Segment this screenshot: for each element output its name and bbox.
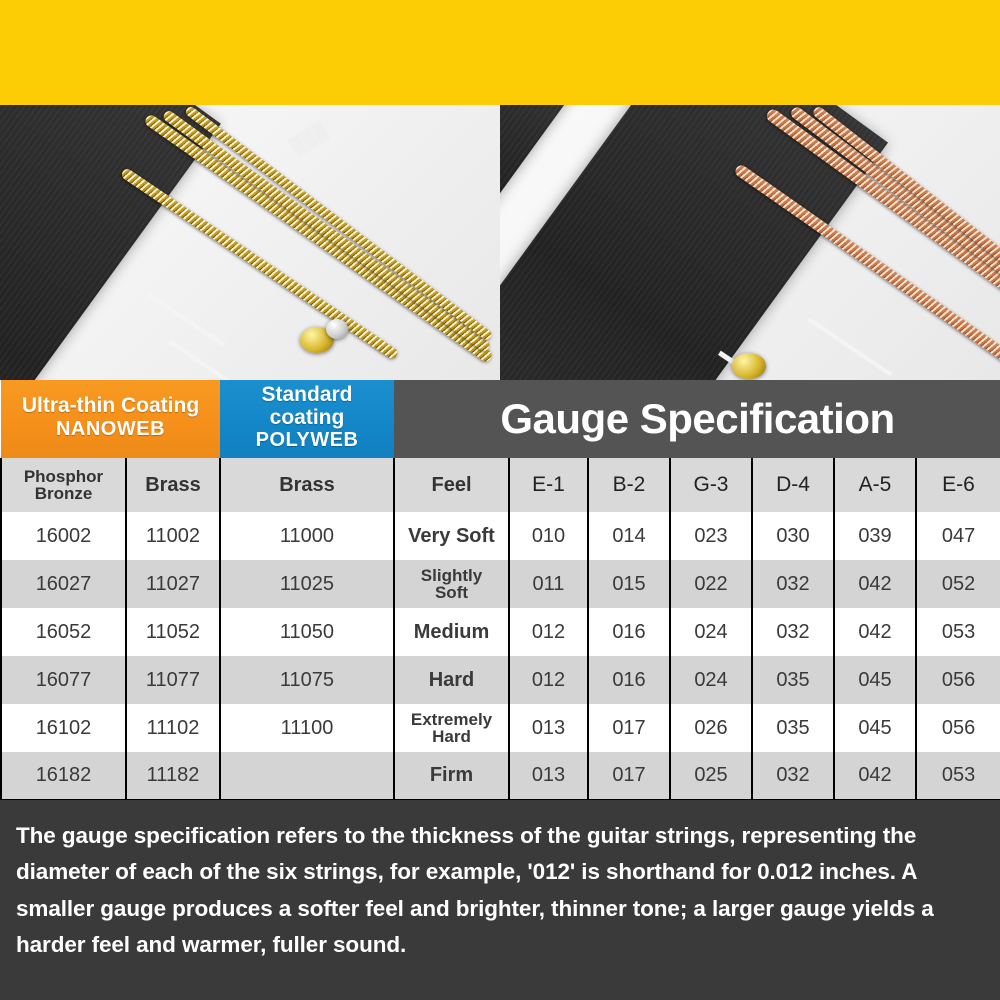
cell-b2: 016	[588, 656, 670, 704]
cell-feel-l1: Extremely	[411, 710, 492, 729]
cell-brass-nanoweb: 11027	[126, 560, 220, 608]
cell-d4: 035	[752, 704, 834, 752]
col-header-d4: D-4	[752, 458, 834, 512]
col-header-phosphor-l1: Phosphor	[24, 467, 103, 486]
cell-feel: Very Soft	[394, 512, 509, 560]
cell-feel: Medium	[394, 608, 509, 656]
cell-e6: 056	[916, 656, 1000, 704]
cell-phosphor-bronze: 16027	[1, 560, 126, 608]
cell-g3: 026	[670, 704, 752, 752]
cell-brass-nanoweb: 11002	[126, 512, 220, 560]
cell-e1: 013	[509, 704, 588, 752]
cell-a5: 039	[834, 512, 916, 560]
cell-brass-polyweb: 11025	[220, 560, 394, 608]
cell-e1: 012	[509, 656, 588, 704]
cell-e6: 053	[916, 608, 1000, 656]
table-row: 16102 11102 11100 Extremely Hard 013 017…	[1, 704, 1000, 752]
col-header-e6: E-6	[916, 458, 1000, 512]
cell-brass-polyweb: 11100	[220, 704, 394, 752]
cell-d4: 032	[752, 608, 834, 656]
cell-e1: 010	[509, 512, 588, 560]
cell-a5: 042	[834, 752, 916, 800]
cell-b2: 017	[588, 704, 670, 752]
cell-phosphor-bronze: 16102	[1, 704, 126, 752]
page-title: Gauge Specification	[500, 395, 894, 442]
gauge-specification-table: Ultra-thin Coating NANOWEB Standard coat…	[0, 380, 1000, 801]
cell-brass-polyweb: 11050	[220, 608, 394, 656]
cell-e1: 011	[509, 560, 588, 608]
top-yellow-banner	[0, 0, 1000, 105]
table-row: 16002 11002 11000 Very Soft 010 014 023 …	[1, 512, 1000, 560]
cell-brass-nanoweb: 11052	[126, 608, 220, 656]
col-header-b2: B-2	[588, 458, 670, 512]
table-row: 16052 11052 11050 Medium 012 016 024 032…	[1, 608, 1000, 656]
cell-a5: 042	[834, 560, 916, 608]
gauge-specification-table-wrap: Ultra-thin Coating NANOWEB Standard coat…	[0, 380, 1000, 800]
col-header-a5: A-5	[834, 458, 916, 512]
cell-e1: 012	[509, 608, 588, 656]
cell-brass-nanoweb: 11182	[126, 752, 220, 800]
cell-g3: 023	[670, 512, 752, 560]
ball-end-gold-right	[732, 353, 766, 379]
cell-phosphor-bronze: 16182	[1, 752, 126, 800]
cell-brass-polyweb: 11075	[220, 656, 394, 704]
table-row: 16182 11182 Firm 013 017 025 032 042 053	[1, 752, 1000, 800]
cell-a5: 045	[834, 656, 916, 704]
cell-a5: 045	[834, 704, 916, 752]
col-header-e1: E-1	[509, 458, 588, 512]
cell-e6: 053	[916, 752, 1000, 800]
cell-d4: 030	[752, 512, 834, 560]
product-photo-strip: ███	[0, 105, 1000, 380]
polyweb-line1b: coating	[222, 407, 392, 430]
polyweb-line2: POLYWEB	[222, 429, 392, 452]
coating-banner-row: Ultra-thin Coating NANOWEB Standard coat…	[1, 380, 1000, 458]
ball-end-silver-left	[326, 319, 348, 339]
cell-feel-l1: Slightly	[421, 566, 482, 585]
cell-phosphor-bronze: 16052	[1, 608, 126, 656]
cell-e1: 013	[509, 752, 588, 800]
cell-feel: Slightly Soft	[394, 560, 509, 608]
cell-g3: 024	[670, 608, 752, 656]
column-header-row: Phosphor Bronze Brass Brass Feel E-1 B-2…	[1, 458, 1000, 512]
cell-g3: 022	[670, 560, 752, 608]
col-header-feel: Feel	[394, 458, 509, 512]
cell-e6: 056	[916, 704, 1000, 752]
col-header-phosphor-l2: Bronze	[35, 484, 93, 503]
cell-b2: 016	[588, 608, 670, 656]
nanoweb-line1: Ultra-thin Coating	[3, 395, 218, 418]
nanoweb-coating-header: Ultra-thin Coating NANOWEB	[1, 380, 220, 458]
cell-feel-l2: Soft	[435, 583, 468, 602]
cell-b2: 014	[588, 512, 670, 560]
cell-d4: 032	[752, 560, 834, 608]
table-row: 16027 11027 11025 Slightly Soft 011 015 …	[1, 560, 1000, 608]
cell-brass-nanoweb: 11102	[126, 704, 220, 752]
cell-phosphor-bronze: 16077	[1, 656, 126, 704]
gauge-specification-title-cell: Gauge Specification	[394, 380, 1000, 458]
brass-strings-photo: ███	[0, 105, 500, 380]
col-header-g3: G-3	[670, 458, 752, 512]
cell-phosphor-bronze: 16002	[1, 512, 126, 560]
nanoweb-line2: NANOWEB	[3, 418, 218, 441]
col-header-phosphor-bronze: Phosphor Bronze	[1, 458, 126, 512]
cell-d4: 032	[752, 752, 834, 800]
cell-feel: Firm	[394, 752, 509, 800]
cell-feel: Hard	[394, 656, 509, 704]
polyweb-line1a: Standard	[222, 384, 392, 407]
cell-a5: 042	[834, 608, 916, 656]
cell-e6: 047	[916, 512, 1000, 560]
cell-d4: 035	[752, 656, 834, 704]
cell-g3: 025	[670, 752, 752, 800]
cell-g3: 024	[670, 656, 752, 704]
product-info-graphic: ███	[0, 0, 1000, 1000]
table-row: 16077 11077 11075 Hard 012 016 024 035 0…	[1, 656, 1000, 704]
phosphor-bronze-strings-photo	[500, 105, 1000, 380]
cell-b2: 017	[588, 752, 670, 800]
polyweb-coating-header: Standard coating POLYWEB	[220, 380, 394, 458]
cell-feel: Extremely Hard	[394, 704, 509, 752]
cell-brass-polyweb: 11000	[220, 512, 394, 560]
cell-brass-polyweb	[220, 752, 394, 800]
cell-e6: 052	[916, 560, 1000, 608]
cell-feel-l2: Hard	[432, 727, 471, 746]
cell-brass-nanoweb: 11077	[126, 656, 220, 704]
explanation-paragraph: The gauge specification refers to the th…	[16, 818, 984, 964]
col-header-brass-polyweb: Brass	[220, 458, 394, 512]
explanation-footer: The gauge specification refers to the th…	[0, 800, 1000, 1000]
col-header-brass-nanoweb: Brass	[126, 458, 220, 512]
cell-b2: 015	[588, 560, 670, 608]
